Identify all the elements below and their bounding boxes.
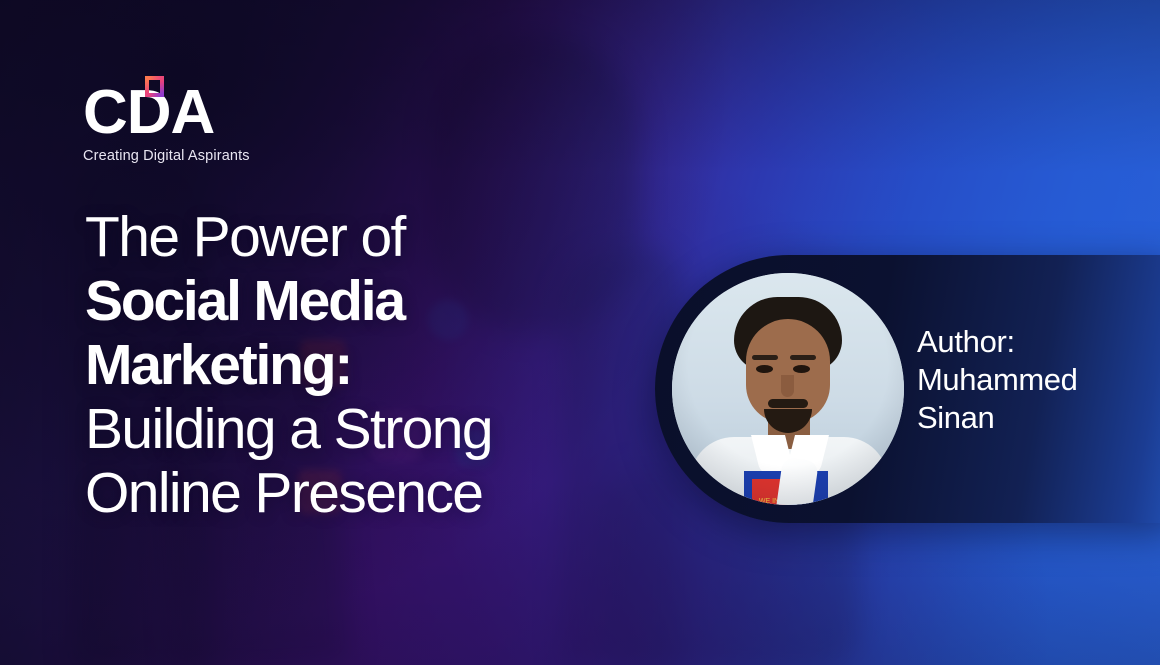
square-outline-icon: [145, 76, 164, 97]
avatar-vignette: [672, 273, 904, 505]
headline-line-5: Online Presence: [85, 461, 705, 525]
author-info: Author: Muhammed Sinan: [917, 323, 1160, 437]
headline-line-2: Social Media: [85, 269, 705, 333]
avatar: WE IN WORK: [672, 273, 904, 505]
social-media-marketing-banner: CDA Creating Digital Aspirants The Power…: [0, 0, 1160, 665]
author-name-line-1: Muhammed: [917, 361, 1160, 399]
author-panel: WE IN WORK Author: Muhammed Sinan: [655, 255, 1160, 523]
brand-tagline: Creating Digital Aspirants: [83, 148, 343, 164]
brand-logo[interactable]: CDA Creating Digital Aspirants: [83, 82, 343, 164]
headline-line-4: Building a Strong: [85, 397, 705, 461]
headline-line-1: The Power of: [85, 205, 705, 269]
logo-mark: CDA: [83, 82, 343, 144]
page-title: The Power of Social Media Marketing: Bui…: [85, 205, 705, 525]
headline-line-3: Marketing:: [85, 333, 705, 397]
author-label: Author:: [917, 323, 1160, 361]
author-name-line-2: Sinan: [917, 399, 1160, 437]
